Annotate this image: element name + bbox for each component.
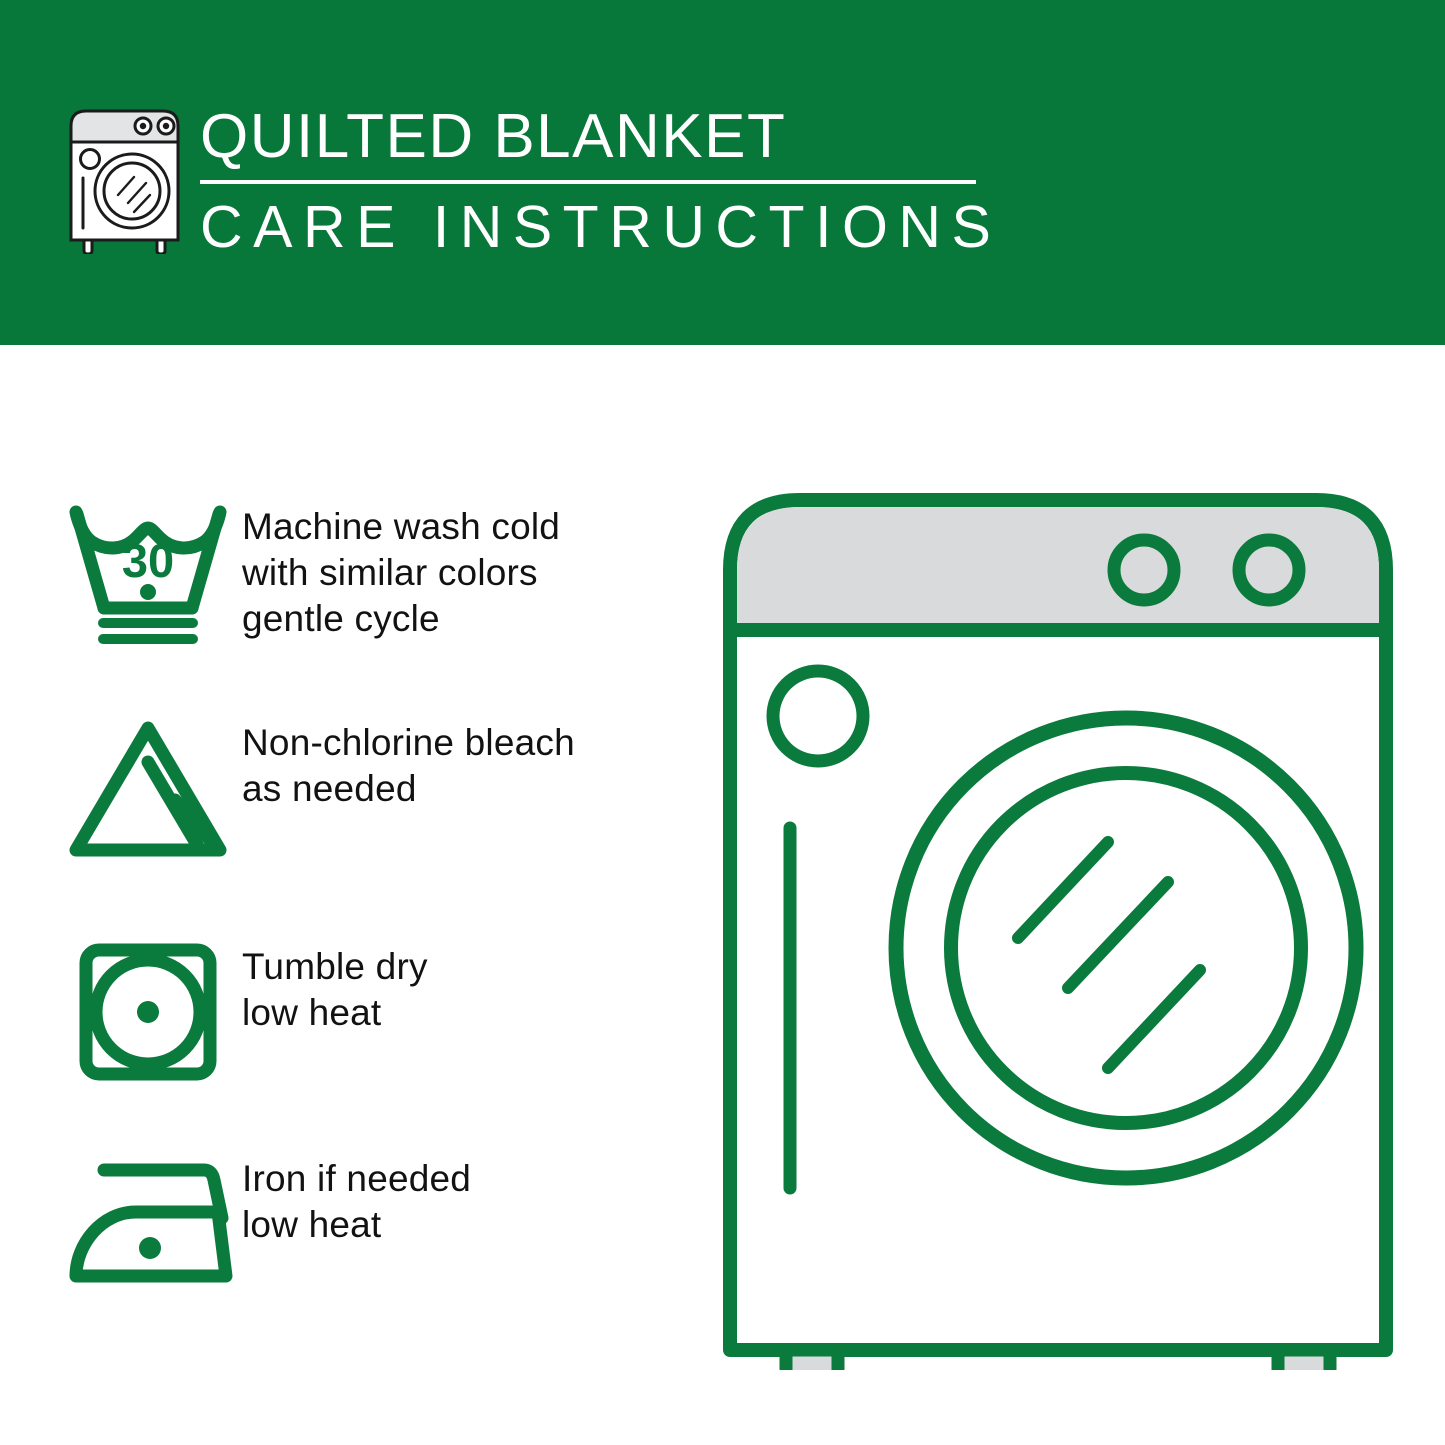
- care-text-line: low heat: [242, 1202, 682, 1248]
- care-text-line: with similar colors: [242, 550, 682, 596]
- care-text-line: low heat: [242, 990, 682, 1036]
- wash-basin-30-gentle-icon: 30: [62, 500, 242, 652]
- care-text-line: Machine wash cold: [242, 504, 682, 550]
- care-text-iron: Iron if needed low heat: [242, 1152, 682, 1248]
- title-divider: [200, 180, 976, 184]
- leg-left: [786, 1350, 838, 1370]
- care-text-bleach: Non-chlorine bleach as needed: [242, 716, 682, 812]
- knob-right: [1239, 540, 1299, 600]
- detergent-port: [773, 671, 863, 761]
- care-row-iron: Iron if needed low heat: [62, 1152, 682, 1292]
- care-text-line: Iron if needed: [242, 1156, 682, 1202]
- knob-left: [1114, 540, 1174, 600]
- care-row-wash: 30 Machine wash cold with similar colors…: [62, 500, 682, 652]
- header-title-block: QUILTED BLANKET CARE INSTRUCTIONS: [200, 98, 980, 262]
- care-text-line: gentle cycle: [242, 596, 682, 642]
- washing-machine-icon: [62, 102, 187, 254]
- care-text-tumble-dry: Tumble dry low heat: [242, 940, 682, 1036]
- tumble-dry-low-icon: [62, 940, 242, 1082]
- care-row-bleach: Non-chlorine bleach as needed: [62, 716, 682, 862]
- page-subtitle: CARE INSTRUCTIONS: [200, 192, 980, 262]
- non-chlorine-bleach-triangle-icon: [62, 716, 242, 862]
- leg-right: [1278, 1350, 1330, 1370]
- care-text-wash: Machine wash cold with similar colors ge…: [242, 500, 682, 642]
- care-instructions-infographic: QUILTED BLANKET CARE INSTRUCTIONS 30: [0, 0, 1445, 1445]
- page-title: QUILTED BLANKET: [200, 98, 980, 176]
- header-band: QUILTED BLANKET CARE INSTRUCTIONS: [0, 0, 1445, 345]
- care-text-line: Non-chlorine bleach: [242, 720, 682, 766]
- care-row-tumble-dry: Tumble dry low heat: [62, 940, 682, 1082]
- care-text-line: Tumble dry: [242, 944, 682, 990]
- iron-low-heat-icon: [62, 1152, 242, 1292]
- care-text-line: as needed: [242, 766, 682, 812]
- drum-inner-ring: [951, 773, 1301, 1123]
- front-load-washing-machine-illustration: [708, 470, 1408, 1370]
- wash-temperature-label: 30: [122, 534, 174, 587]
